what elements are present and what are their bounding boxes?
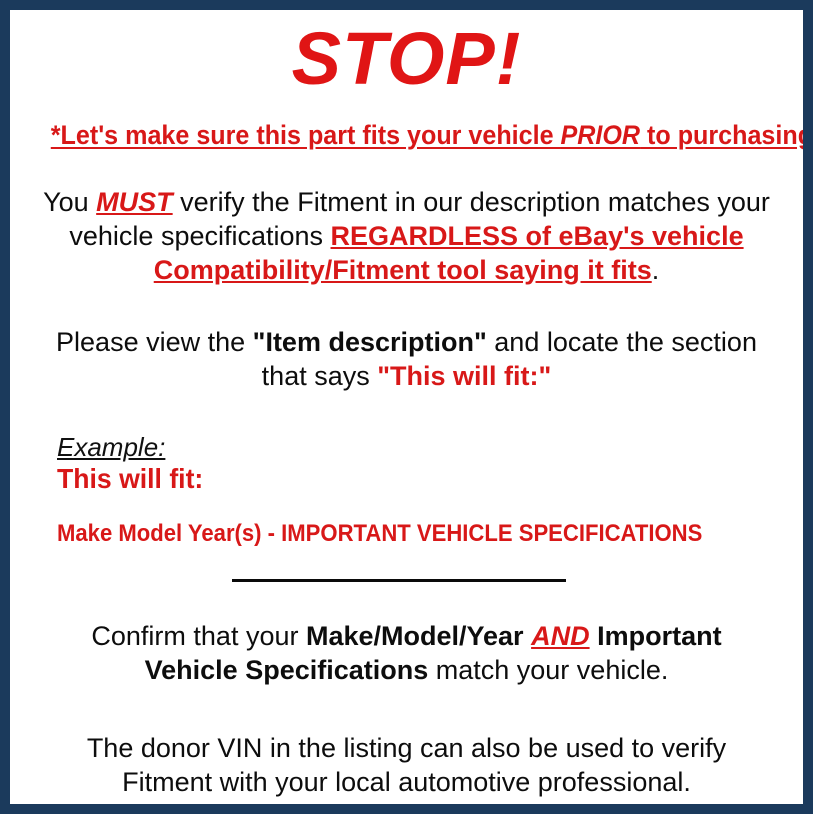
vin-paragraph: The donor VIN in the listing can also be… (24, 731, 789, 799)
stop-headline: STOP! (24, 20, 789, 98)
confirm-seg-3: match your vehicle. (428, 655, 668, 685)
and-emphasis: AND (531, 621, 590, 651)
fitment-notice-frame: STOP! *Let's make sure this part fits yo… (0, 0, 813, 814)
must-emphasis: MUST (96, 187, 173, 217)
confirm-seg-2 (590, 621, 598, 651)
confirm-paragraph: Confirm that your Make/Model/Year AND Im… (24, 619, 789, 687)
please-view-paragraph: Please view the "Item description" and l… (24, 325, 789, 393)
example-block: Example: This will fit: Make Model Year(… (24, 433, 789, 547)
must-seg-3: . (652, 255, 660, 285)
must-seg-1: You (43, 187, 96, 217)
subtitle-prefix: *Let's make sure this part fits your veh… (51, 120, 561, 150)
make-model-year-emphasis: Make/Model/Year (306, 621, 531, 651)
confirm-seg-1: Confirm that your (91, 621, 306, 651)
example-will-fit-heading: This will fit: (57, 464, 752, 495)
must-verify-paragraph: You MUST verify the Fitment in our descr… (24, 185, 789, 287)
subtitle-emphasis-prior: PRIOR (561, 120, 641, 150)
example-label: Example: (57, 433, 165, 462)
subtitle-line: *Let's make sure this part fits your veh… (51, 120, 762, 151)
divider-rule (232, 579, 566, 582)
subtitle-suffix: to purchasing* (640, 120, 813, 150)
divider (24, 575, 789, 589)
this-will-fit-emphasis: "This will fit:" (377, 361, 551, 391)
notice-inner: STOP! *Let's make sure this part fits yo… (10, 10, 803, 804)
item-description-emphasis: "Item description" (253, 327, 487, 357)
example-spec-line: Make Model Year(s) - IMPORTANT VEHICLE S… (57, 521, 730, 547)
please-seg-1: Please view the (56, 327, 253, 357)
